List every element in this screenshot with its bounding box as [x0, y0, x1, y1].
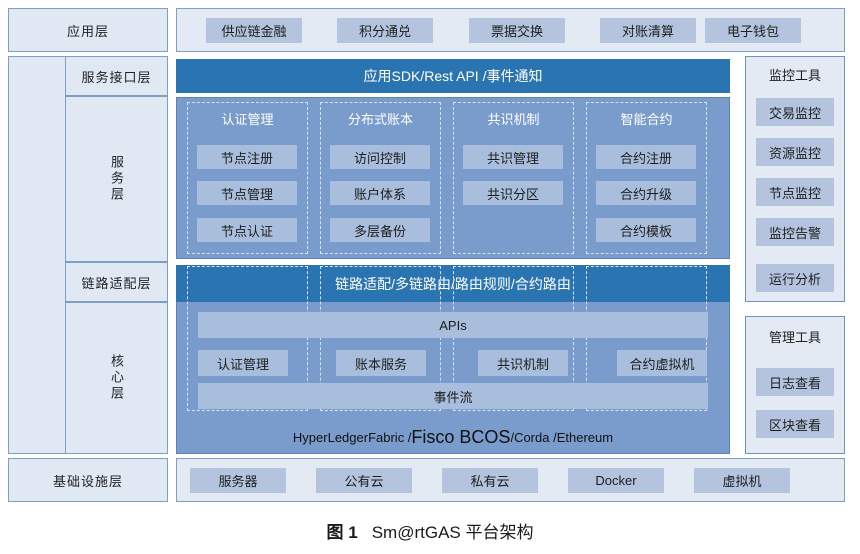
chain-base-part3: /Corda /Ethereum — [510, 430, 613, 445]
manage-item-log-view[interactable]: 日志查看 — [756, 368, 834, 396]
app-item-e-wallet[interactable]: 电子钱包 — [705, 18, 801, 43]
sublayer-service-interface-cell: 服务接口层 — [65, 56, 168, 96]
service-item-node-manage[interactable]: 节点管理 — [197, 181, 297, 205]
service-item-access-control[interactable]: 访问控制 — [330, 145, 430, 169]
core-module-contract-vm[interactable]: 合约虚拟机 — [617, 350, 707, 376]
app-item-supply-chain-finance[interactable]: 供应链金融 — [206, 18, 302, 43]
infra-item-server[interactable]: 服务器 — [190, 468, 286, 493]
chain-base-part1: HyperLedgerFabric / — [293, 430, 412, 445]
service-item-node-auth[interactable]: 节点认证 — [197, 218, 297, 242]
service-item-multilayer-backup[interactable]: 多层备份 — [330, 218, 430, 242]
service-item-consensus-manage[interactable]: 共识管理 — [463, 145, 563, 169]
chain-base-part2: Fisco BCOS — [411, 427, 510, 448]
figure-caption: 图 1Sm@rtGAS 平台架构 — [0, 518, 860, 543]
app-item-reconciliation-settlement[interactable]: 对账清算 — [600, 18, 696, 43]
sublayer-service-cell: 服务层 — [65, 96, 168, 262]
service-column-title-ledger: 分布式账本 — [320, 106, 441, 130]
core-module-consensus-mechanism[interactable]: 共识机制 — [478, 350, 568, 376]
sublayer-link-adapter-cell: 链路适配层 — [65, 262, 168, 302]
service-column-title-auth: 认证管理 — [187, 106, 308, 130]
core-module-ledger-service[interactable]: 账本服务 — [336, 350, 426, 376]
core-chain-bases: HyperLedgerFabric /Fisco BCOS /Corda /Et… — [176, 422, 730, 452]
monitor-item-runtime-analysis[interactable]: 运行分析 — [756, 264, 834, 292]
core-module-auth-manage[interactable]: 认证管理 — [198, 350, 288, 376]
manage-item-block-view[interactable]: 区块查看 — [756, 410, 834, 438]
service-item-contract-template[interactable]: 合约模板 — [596, 218, 696, 242]
sublayer-service-interface-label: 服务接口层 — [81, 67, 151, 86]
sublayer-core-label: 核心层 — [107, 354, 126, 402]
sublayer-service-label: 服务层 — [107, 155, 126, 203]
monitor-item-monitor-alert[interactable]: 监控告警 — [756, 218, 834, 246]
infra-item-virtual-machine[interactable]: 虚拟机 — [694, 468, 790, 493]
monitor-item-resource-monitor[interactable]: 资源监控 — [756, 138, 834, 166]
service-item-contract-register[interactable]: 合约注册 — [596, 145, 696, 169]
core-event-stream-bar: 事件流 — [198, 383, 708, 409]
service-item-contract-upgrade[interactable]: 合约升级 — [596, 181, 696, 205]
service-column-title-contract: 智能合约 — [586, 106, 707, 130]
service-column-title-consensus: 共识机制 — [453, 106, 574, 130]
manage-tools-title: 管理工具 — [745, 322, 845, 350]
infra-item-docker[interactable]: Docker — [568, 468, 664, 493]
application-layer-label-cell: 应用层 — [8, 8, 168, 52]
figure-title: Sm@rtGAS 平台架构 — [372, 523, 534, 542]
sublayer-link-adapter-label: 链路适配层 — [81, 273, 151, 292]
app-item-bill-exchange[interactable]: 票据交换 — [469, 18, 565, 43]
monitor-item-node-monitor[interactable]: 节点监控 — [756, 178, 834, 206]
monitor-item-transaction-monitor[interactable]: 交易监控 — [756, 98, 834, 126]
service-item-account-system[interactable]: 账户体系 — [330, 181, 430, 205]
app-item-points-exchange[interactable]: 积分通兑 — [337, 18, 433, 43]
figure-number: 图 1 — [327, 523, 358, 542]
infra-item-public-cloud[interactable]: 公有云 — [316, 468, 412, 493]
service-interface-bar: 应用SDK/Rest API /事件通知 — [176, 59, 730, 93]
monitor-tools-title: 监控工具 — [745, 60, 845, 88]
infrastructure-layer-label: 基础设施层 — [53, 471, 123, 490]
core-apis-bar: APIs — [198, 312, 708, 338]
infrastructure-layer-label-cell: 基础设施层 — [8, 458, 168, 502]
infra-item-private-cloud[interactable]: 私有云 — [442, 468, 538, 493]
application-layer-label: 应用层 — [67, 21, 109, 40]
sublayer-core-cell: 核心层 — [65, 302, 168, 454]
service-item-node-register[interactable]: 节点注册 — [197, 145, 297, 169]
service-item-consensus-partition[interactable]: 共识分区 — [463, 181, 563, 205]
